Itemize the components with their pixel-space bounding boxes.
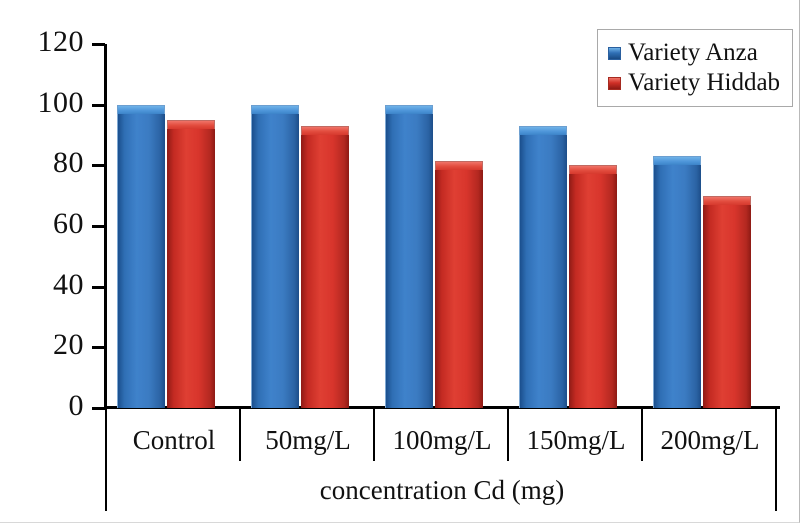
- bar-body: [117, 112, 165, 408]
- x-axis-title: concentration Cd (mg): [107, 474, 777, 506]
- legend-swatch-variety-hiddab: [608, 77, 621, 90]
- bar-top-cap: [251, 105, 299, 114]
- bar-variety-anza: [117, 105, 165, 408]
- bar-variety-anza: [519, 126, 567, 408]
- bar-body: [385, 112, 433, 408]
- bar-top-cap: [301, 126, 349, 135]
- bar-variety-hiddab: [167, 120, 215, 408]
- x-axis-label: 150mg/L: [509, 424, 643, 456]
- bar-body: [167, 127, 215, 408]
- bar-body: [703, 203, 751, 408]
- bar-variety-anza: [385, 105, 433, 408]
- bar-body: [301, 133, 349, 408]
- bar-variety-anza: [653, 156, 701, 408]
- x-axis-label: Control: [107, 424, 241, 456]
- bar-variety-hiddab: [435, 161, 483, 408]
- bar-body: [653, 163, 701, 408]
- y-axis-label: 100: [8, 88, 84, 118]
- bar-top-cap: [167, 120, 215, 129]
- y-axis-label: 120: [8, 27, 84, 57]
- bar-top-cap: [435, 161, 483, 170]
- bar-group: [241, 44, 375, 408]
- y-axis-label: 40: [8, 270, 84, 300]
- bar-chart-figure: 020406080100120 Control50mg/L100mg/L150m…: [0, 0, 800, 523]
- bar-body: [435, 168, 483, 408]
- legend-label-variety-hiddab: Variety Hiddab: [628, 70, 780, 96]
- y-axis-label: 60: [8, 209, 84, 239]
- bar-variety-hiddab: [301, 126, 349, 408]
- y-axis-label: 20: [8, 330, 84, 360]
- y-axis-label: 0: [8, 391, 84, 421]
- x-axis-label: 200mg/L: [643, 424, 777, 456]
- bar-body: [251, 112, 299, 408]
- bar-top-cap: [653, 156, 701, 165]
- bar-group: [375, 44, 509, 408]
- bar-body: [519, 133, 567, 408]
- bar-variety-hiddab: [569, 165, 617, 408]
- legend-item: Variety Hiddab: [608, 68, 780, 98]
- bar-group: [107, 44, 241, 408]
- bar-top-cap: [385, 105, 433, 114]
- chart-legend: Variety Anza Variety Hiddab: [597, 29, 793, 107]
- x-axis-label: 100mg/L: [375, 424, 509, 456]
- legend-label-variety-anza: Variety Anza: [628, 40, 758, 66]
- x-axis-label: 50mg/L: [241, 424, 375, 456]
- legend-item: Variety Anza: [608, 38, 780, 68]
- bar-variety-hiddab: [703, 196, 751, 408]
- bar-body: [569, 172, 617, 408]
- legend-swatch-variety-anza: [608, 47, 621, 60]
- bar-top-cap: [519, 126, 567, 135]
- bar-top-cap: [117, 105, 165, 114]
- bar-top-cap: [569, 165, 617, 174]
- y-axis-label: 80: [8, 148, 84, 178]
- bar-variety-anza: [251, 105, 299, 408]
- bar-top-cap: [703, 196, 751, 205]
